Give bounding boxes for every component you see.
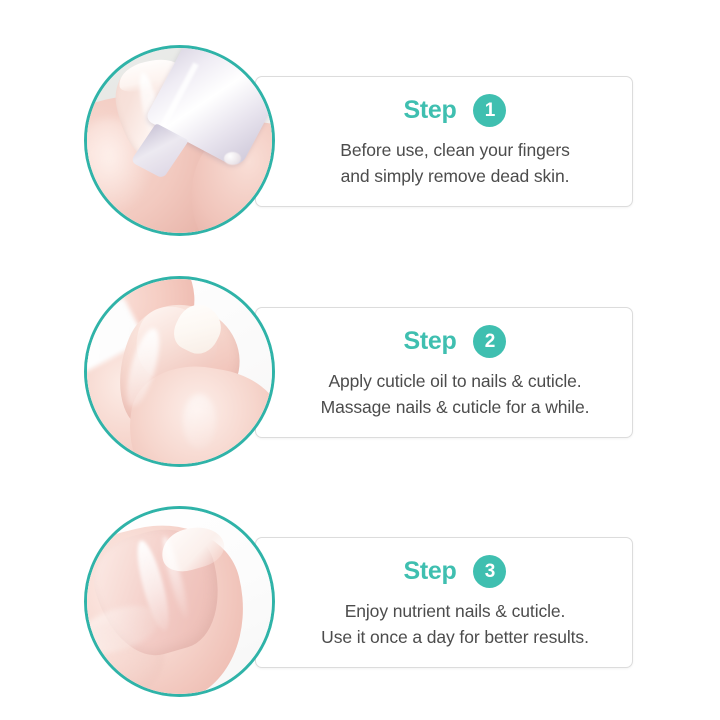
- step-card-3: Step 3 Enjoy nutrient nails & cuticle. U…: [255, 537, 633, 668]
- step-1-photo-art: [87, 48, 272, 233]
- step-card-1: Step 1 Before use, clean your fingers an…: [255, 76, 633, 207]
- step-1-heading: Step 1: [404, 94, 507, 127]
- step-card-3-content: Step 3 Enjoy nutrient nails & cuticle. U…: [286, 538, 624, 667]
- step-2-number-badge: 2: [473, 325, 506, 358]
- instruction-sheet: Step 1 Before use, clean your fingers an…: [0, 0, 720, 720]
- step-3-label: Step: [404, 559, 457, 584]
- step-2-description: Apply cuticle oil to nails & cuticle. Ma…: [321, 369, 590, 420]
- nail-applicator-brush-photo: [84, 45, 275, 236]
- step-2-heading: Step 2: [404, 325, 507, 358]
- step-3-number-badge: 3: [473, 555, 506, 588]
- healthy-nail-result-photo: [84, 506, 275, 697]
- step-3-description: Enjoy nutrient nails & cuticle. Use it o…: [321, 599, 589, 650]
- step-1-label: Step: [404, 98, 457, 123]
- step-2-label: Step: [404, 329, 457, 354]
- step-row-2: Step 2 Apply cuticle oil to nails & cuti…: [0, 276, 720, 451]
- step-1-description: Before use, clean your fingers and simpl…: [340, 138, 570, 189]
- step-card-2-content: Step 2 Apply cuticle oil to nails & cuti…: [286, 308, 624, 437]
- step-3-photo-art: [87, 509, 272, 694]
- photo-1-droplet: [224, 152, 241, 165]
- step-1-number-badge: 1: [473, 94, 506, 127]
- step-2-photo-art: [87, 279, 272, 464]
- step-3-heading: Step 3: [404, 555, 507, 588]
- cuticle-oil-massage-photo: [84, 276, 275, 467]
- step-row-3: Step 3 Enjoy nutrient nails & cuticle. U…: [0, 506, 720, 681]
- step-card-1-content: Step 1 Before use, clean your fingers an…: [286, 77, 624, 206]
- step-row-1: Step 1 Before use, clean your fingers an…: [0, 45, 720, 220]
- step-card-2: Step 2 Apply cuticle oil to nails & cuti…: [255, 307, 633, 438]
